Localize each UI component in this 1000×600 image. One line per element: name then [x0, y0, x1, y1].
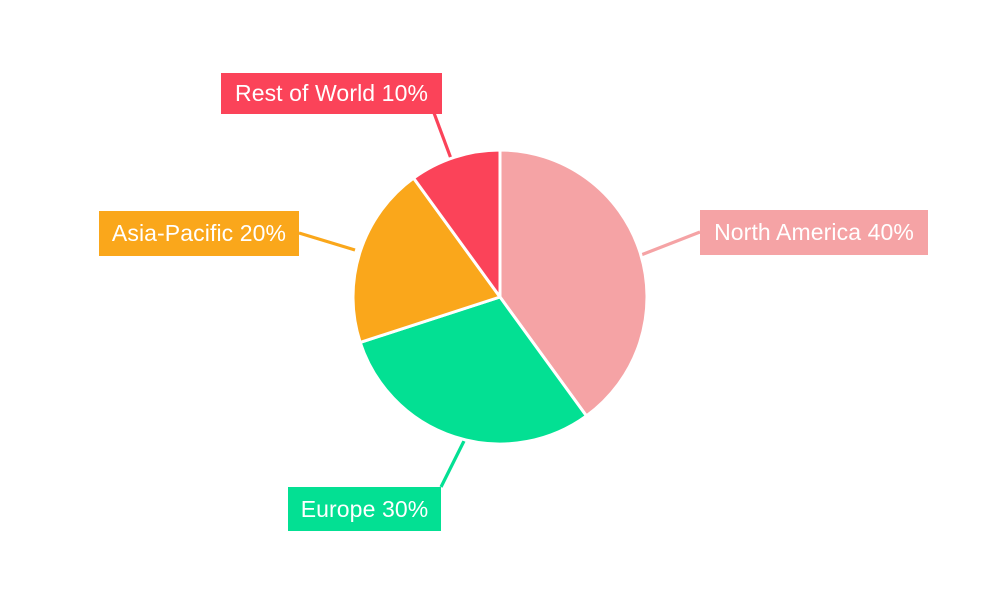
pie-chart-figure: North America 40% Europe 30% Asia-Pacifi… [0, 0, 1000, 600]
pie-label-asia-pacific: Asia-Pacific 20% [99, 211, 299, 256]
leader-line-europe [441, 441, 464, 487]
pie-label-europe: Europe 30% [288, 487, 441, 531]
pie-slices-group [353, 150, 647, 444]
pie-chart-svg [0, 0, 1000, 600]
pie-label-north-america: North America 40% [700, 210, 928, 255]
pie-label-rest-of-world: Rest of World 10% [221, 73, 442, 114]
leader-line-north-america [641, 232, 700, 255]
leader-line-asia-pacific [299, 233, 355, 250]
